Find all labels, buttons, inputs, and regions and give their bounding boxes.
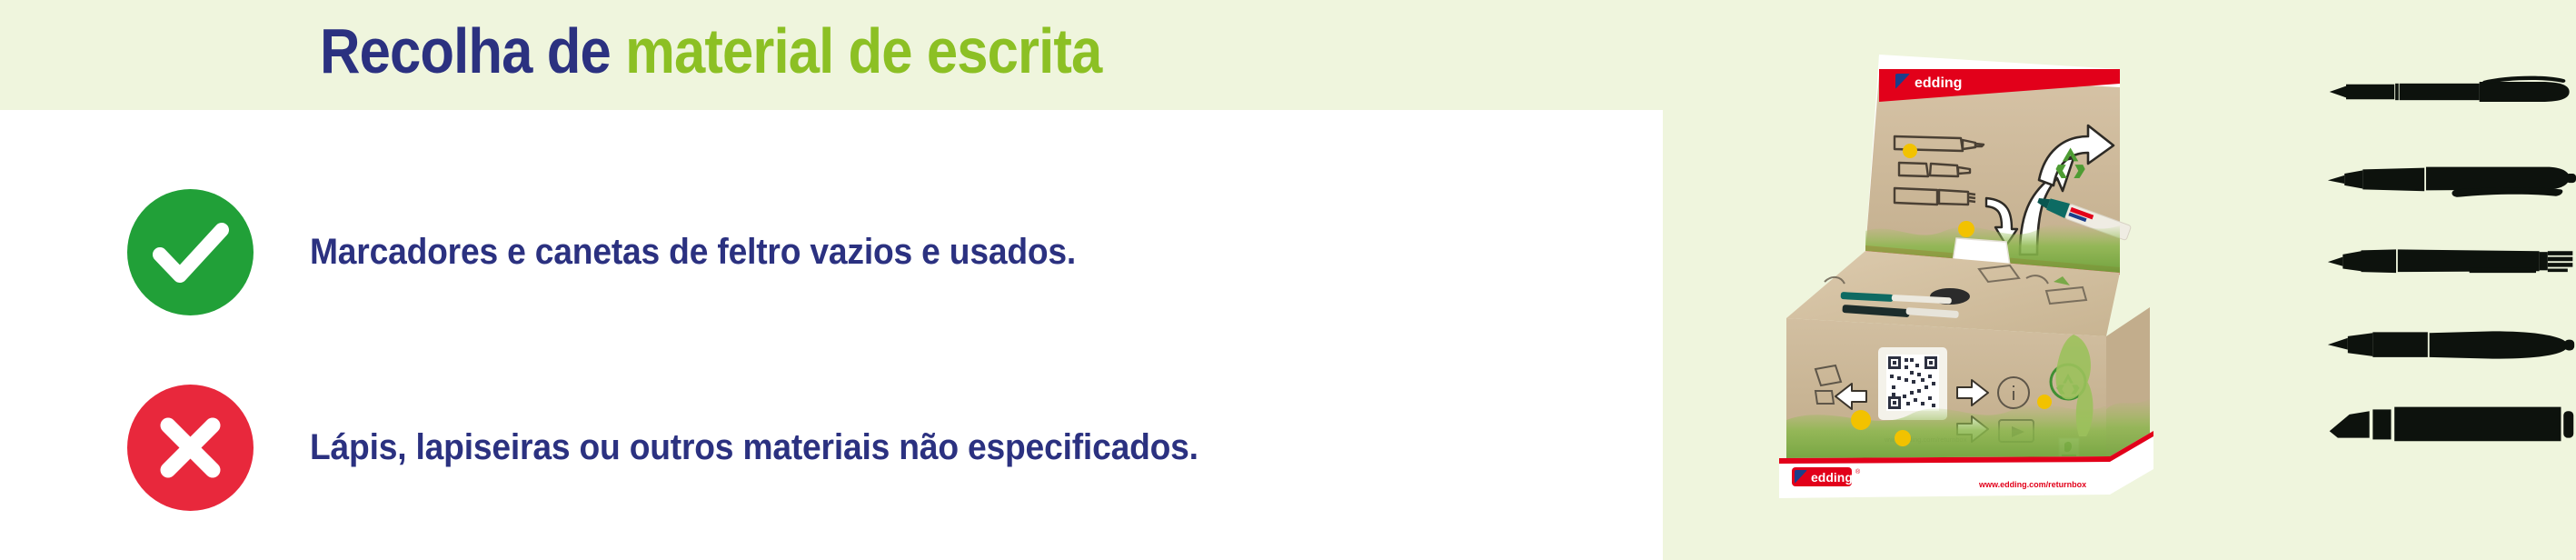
banner-root: Recolha de material de escrita Marcadore… bbox=[0, 0, 2576, 560]
page-title-accent: material de escrita bbox=[625, 15, 1101, 86]
page-title: Recolha de material de escrita bbox=[320, 7, 1101, 95]
page-title-primary: Recolha de bbox=[320, 15, 625, 86]
ballpoint-pen-silhouette bbox=[2326, 162, 2576, 205]
svg-text:®: ® bbox=[1964, 72, 1970, 80]
box-url-text: www.edding.com/returnbox bbox=[1978, 480, 2086, 489]
list-item-allowed: Marcadores e canetas de feltro vazios e … bbox=[127, 189, 1134, 315]
mechanical-pencil-silhouette bbox=[2326, 244, 2576, 284]
edding-collection-box-illustration: edding ® bbox=[1706, 35, 2215, 530]
check-circle-icon bbox=[127, 189, 254, 315]
list-item-forbidden-label: Lápis, lapiseiras ou outros materiais nã… bbox=[310, 427, 1198, 468]
svg-text:edding: edding bbox=[1915, 75, 1962, 91]
fineliner-pen-silhouette bbox=[2326, 71, 2576, 113]
rollerball-pen-silhouette bbox=[2326, 327, 2576, 364]
cross-circle-icon bbox=[127, 385, 254, 511]
marker-silhouette bbox=[2326, 402, 2576, 445]
product-image-panel: edding ® bbox=[1663, 18, 2249, 542]
list-item-forbidden: Lápis, lapiseiras ou outros materiais nã… bbox=[127, 385, 1265, 511]
list-item-allowed-label: Marcadores e canetas de feltro vazios e … bbox=[310, 232, 1076, 273]
pen-silhouette-group bbox=[2326, 55, 2576, 491]
svg-text:®: ® bbox=[1855, 468, 1861, 475]
svg-text:edding: edding bbox=[1811, 470, 1853, 485]
